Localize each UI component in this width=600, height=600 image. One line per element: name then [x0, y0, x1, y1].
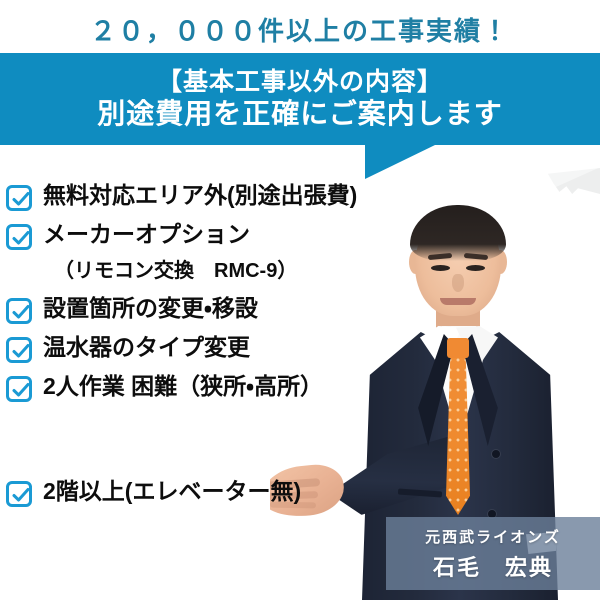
presenter-nameplate: 元西武ライオンズ 石毛 宏典: [386, 517, 600, 590]
presenter-name: 石毛 宏典: [433, 550, 553, 582]
list-item: 設置箇所の変更・移設: [6, 295, 406, 324]
list-item-label: 2階以上(エレベーター無): [43, 478, 301, 505]
band-line-secondary: 別途費用を正確にご案内します: [97, 98, 502, 130]
list-item: 2階以上(エレベーター無): [6, 478, 406, 507]
mouth: [440, 298, 476, 305]
list-item-label: 設置箇所の変更・移設: [43, 295, 258, 322]
necktie-knot: [447, 338, 469, 358]
hair: [410, 205, 506, 261]
jacket-button-top: [492, 450, 500, 458]
checkbox-checked-icon: [6, 376, 32, 402]
list-item-label: 2人作業 困難（狭所・高所）: [43, 373, 323, 400]
promo-banner: ２０，０００件以上の工事実績！ 【基本工事以外の内容】 別途費用を正確にご案内し…: [0, 0, 600, 600]
page-title: ２０，０００件以上の工事実績！: [0, 6, 600, 52]
list-item-label: メーカーオプション: [43, 221, 250, 248]
presenter-team: 元西武ライオンズ: [425, 526, 561, 547]
list-item-label: 温水器のタイプ変更: [43, 334, 250, 361]
list-item: メーカーオプション: [6, 221, 406, 250]
list-item-label: 無料対応エリア外(別途出張費): [43, 182, 357, 209]
checkbox-checked-icon: [6, 337, 32, 363]
checkbox-checked-icon: [6, 481, 32, 507]
band-line-primary: 【基本工事以外の内容】: [157, 68, 443, 97]
necktie-pattern: [446, 355, 470, 515]
list-item: 温水器のタイプ変更: [6, 334, 406, 363]
eye-left: [431, 265, 450, 271]
checkbox-checked-icon: [6, 185, 32, 211]
eye-right: [466, 265, 485, 271]
list-item: 無料対応エリア外(別途出張費): [6, 182, 406, 211]
nose: [452, 274, 464, 292]
highlight-band-text: 【基本工事以外の内容】 別途費用を正確にご案内します: [0, 53, 600, 145]
exclusions-checklist: 無料対応エリア外(別途出張費) メーカーオプション （リモコン交換 RMC-9）…: [6, 182, 406, 517]
highlight-band: 【基本工事以外の内容】 別途費用を正確にご案内します: [0, 53, 600, 145]
list-item: 2人作業 困難（狭所・高所）: [6, 373, 406, 402]
checkbox-checked-icon: [6, 298, 32, 324]
list-item-sublabel: （リモコン交換 RMC-9）: [54, 254, 406, 283]
checkbox-checked-icon: [6, 224, 32, 250]
